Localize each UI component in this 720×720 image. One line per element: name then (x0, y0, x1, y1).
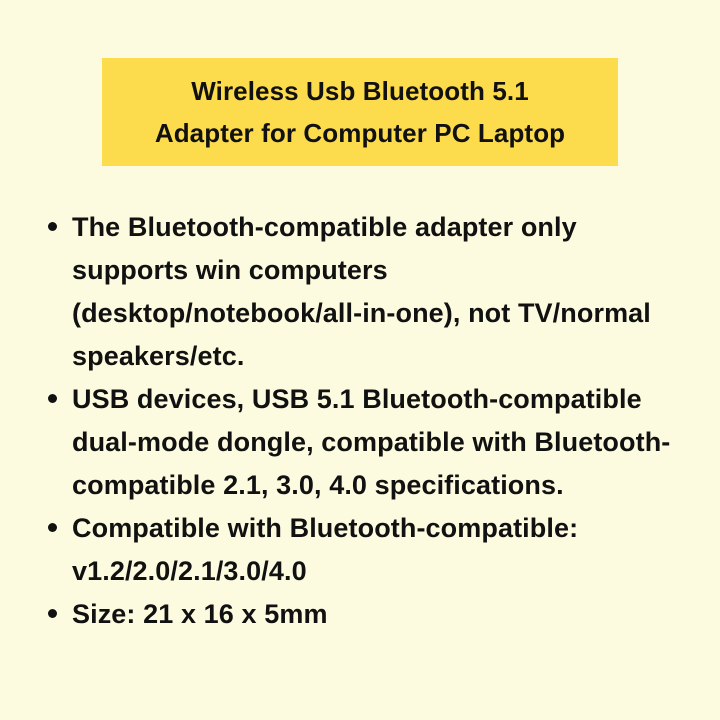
spec-list: The Bluetooth-compatible adapter only su… (44, 206, 684, 636)
bullet-dot-icon (48, 394, 57, 403)
product-info-card: Wireless Usb Bluetooth 5.1 Adapter for C… (0, 0, 720, 720)
bullet-dot-icon (48, 222, 57, 231)
list-item: The Bluetooth-compatible adapter only su… (44, 206, 684, 378)
list-item: USB devices, USB 5.1 Bluetooth-compatibl… (44, 378, 684, 507)
list-item: Size: 21 x 16 x 5mm (44, 593, 684, 636)
bullet-dot-icon (48, 609, 57, 618)
list-item-label: The Bluetooth-compatible adapter only su… (72, 206, 684, 378)
page-title-line-1: Wireless Usb Bluetooth 5.1 (191, 70, 529, 112)
page-title-line-2: Adapter for Computer PC Laptop (155, 112, 565, 154)
list-item: Compatible with Bluetooth-compatible: v1… (44, 507, 684, 593)
list-item-label: Size: 21 x 16 x 5mm (72, 593, 684, 636)
list-item-label: USB devices, USB 5.1 Bluetooth-compatibl… (72, 378, 684, 507)
bullet-dot-icon (48, 523, 57, 532)
list-item-label: Compatible with Bluetooth-compatible: v1… (72, 507, 684, 593)
title-highlight-banner: Wireless Usb Bluetooth 5.1 Adapter for C… (102, 58, 618, 166)
